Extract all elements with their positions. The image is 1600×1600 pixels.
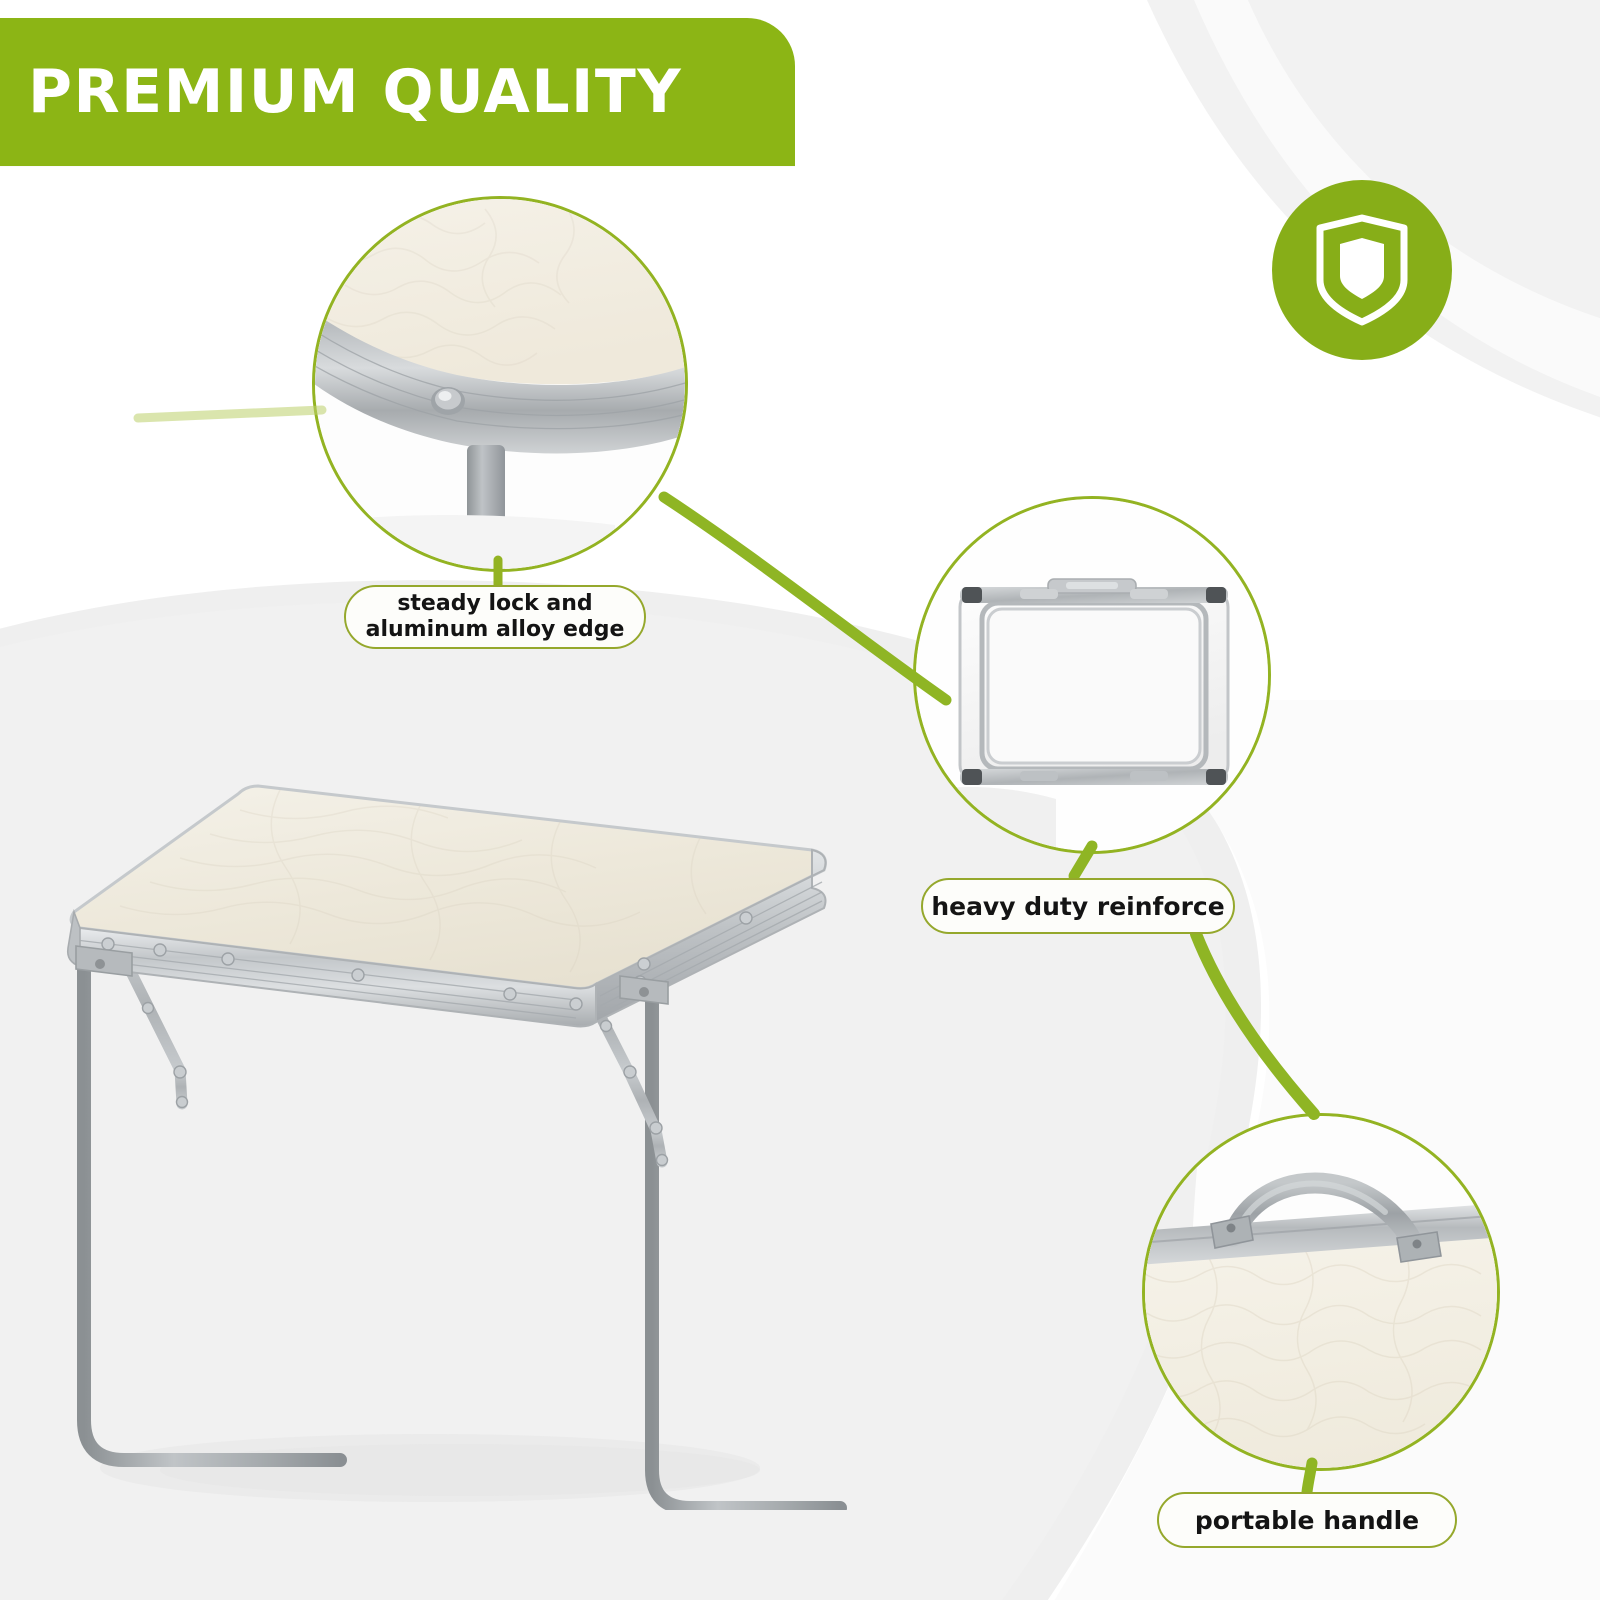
label-portable-handle: portable handle bbox=[1157, 1492, 1457, 1548]
label-heavy-duty-reinforce: heavy duty reinforce bbox=[921, 878, 1235, 934]
label-reinforce-text: heavy duty reinforce bbox=[931, 892, 1224, 921]
label-handle-text: portable handle bbox=[1195, 1506, 1419, 1535]
strut-rivets bbox=[143, 1003, 668, 1166]
table-legs-front bbox=[84, 948, 840, 1508]
label-steady-lock-line2: aluminum alloy edge bbox=[366, 617, 625, 643]
connector-handle-to-label bbox=[1307, 1463, 1312, 1492]
label-steady-lock-line1: steady lock and bbox=[366, 591, 625, 617]
label-steady-lock: steady lock and aluminum alloy edge bbox=[344, 585, 646, 649]
connector-stub-left bbox=[138, 410, 322, 418]
infographic-canvas: PREMIUM QUALITY bbox=[0, 0, 1600, 1600]
connector-reinforce-to-handle bbox=[1196, 934, 1314, 1114]
connector-edge-to-folded bbox=[664, 497, 946, 700]
connector-folded-to-label bbox=[1074, 846, 1092, 876]
product-image-folding-table bbox=[40, 770, 880, 1510]
